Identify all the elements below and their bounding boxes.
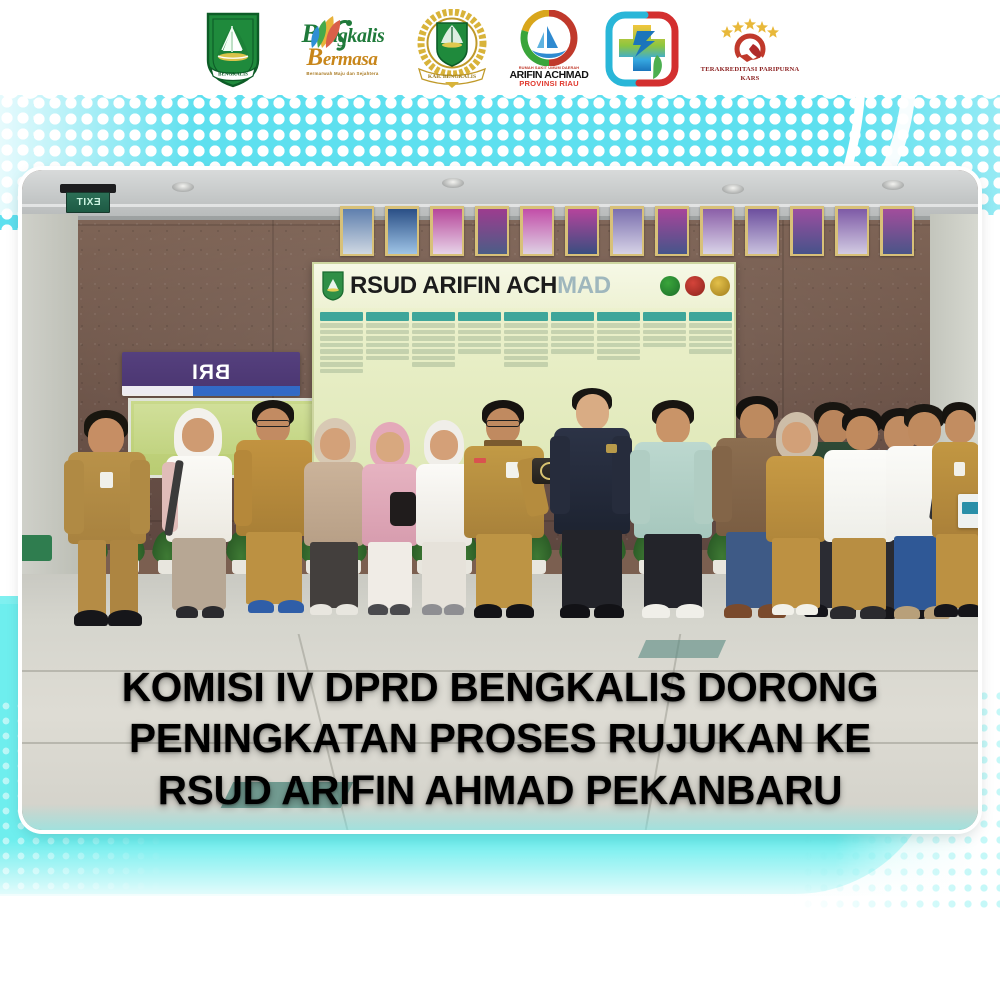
kars-stars-icon	[713, 16, 787, 66]
wayfinding-sign	[22, 535, 52, 561]
headline-line-2: PENINGKATAN PROSES RUJUKAN KE	[0, 713, 1000, 764]
person-khaki-documents	[932, 402, 978, 630]
board-shield-icon	[322, 271, 344, 301]
poster-root: BENGKALIS Bengkalis Bermasa Bermarwah Ma…	[0, 0, 1000, 1000]
footer: HUMAS RSUD BENGKALIS INFORMASI KESEHATAN…	[0, 908, 1000, 1000]
bermasa-feather-icon	[302, 14, 344, 50]
board-header: RSUD ARIFIN ACHMAD	[314, 264, 736, 308]
svg-text:KAB. BENGKALIS: KAB. BENGKALIS	[428, 74, 476, 80]
arifin-achmad-sail-icon	[517, 10, 581, 66]
logo-bengkalis-bermasa: Bengkalis Bermasa Bermarwah Maju dan Sej…	[277, 18, 395, 80]
portrait-frame	[475, 206, 509, 256]
person-mint-shirt	[630, 400, 716, 628]
portrait-frame	[520, 206, 554, 256]
headline-line-1: KOMISI IV DPRD BENGKALIS DORONG	[0, 662, 1000, 713]
arifin-line3: PROVINSI RIAU	[519, 80, 579, 88]
portrait-frame-row	[340, 206, 920, 262]
portrait-frame	[655, 206, 689, 256]
person-center-dark-shirt	[550, 388, 634, 628]
portrait-frame	[790, 206, 824, 256]
logo-row: BENGKALIS Bengkalis Bermasa Bermarwah Ma…	[205, 6, 805, 92]
bri-sign-ribbon	[122, 386, 300, 396]
portrait-frame	[610, 206, 644, 256]
logo-kabupaten-bengkalis-seal: KAB. BENGKALIS	[411, 9, 493, 89]
headline: KOMISI IV DPRD BENGKALIS DORONG PENINGKA…	[0, 662, 1000, 816]
bri-sign-label: BRI	[191, 361, 230, 385]
portrait-frame	[565, 206, 599, 256]
logo-rsud-arifin-achmad: RUMAH SAKIT UMUM DAERAH ARIFIN ACHMAD PR…	[509, 8, 589, 90]
floor-mat-2	[638, 640, 726, 658]
bermasa-tagline: Bermarwah Maju dan Sejahtera	[306, 71, 378, 76]
headline-line-3: RSUD ARIFIN AHMAD PEKANBARU	[0, 765, 1000, 816]
svg-text:BENGKALIS: BENGKALIS	[218, 72, 248, 77]
person-blazer-1	[302, 418, 368, 624]
logo-bengkalis-regency: BENGKALIS	[205, 10, 261, 88]
kars-line1: TERAKREDITASI PARIPURNA	[701, 66, 800, 74]
portrait-frame	[340, 206, 374, 256]
portrait-frame	[745, 206, 779, 256]
hospital-cross-icon	[605, 11, 679, 87]
person-official-plaque	[462, 400, 548, 628]
exit-sign-label: EXIT	[76, 197, 101, 208]
portrait-frame	[385, 206, 419, 256]
bengkalis-regency-seal-icon: BENGKALIS	[205, 10, 261, 88]
logo-kars-paripurna: TERAKREDITASI PARIPURNA KARS	[695, 9, 805, 89]
portrait-frame	[430, 206, 464, 256]
person-khaki-1	[64, 410, 156, 630]
board-title: RSUD ARIFIN ACHMAD	[350, 272, 611, 300]
portrait-frame	[880, 206, 914, 256]
portrait-frame	[700, 206, 734, 256]
logo-hospital-cross	[605, 11, 679, 87]
person-hijab-1	[162, 408, 238, 626]
exit-sign: EXIT	[58, 184, 118, 214]
board-logo-group	[660, 276, 730, 296]
person-hijab-pink	[360, 422, 422, 622]
portrait-frame	[835, 206, 869, 256]
person-hijab-khaki	[764, 412, 830, 626]
kars-line2: KARS	[741, 75, 760, 82]
gold-wreath-seal-icon: KAB. BENGKALIS	[411, 9, 493, 89]
